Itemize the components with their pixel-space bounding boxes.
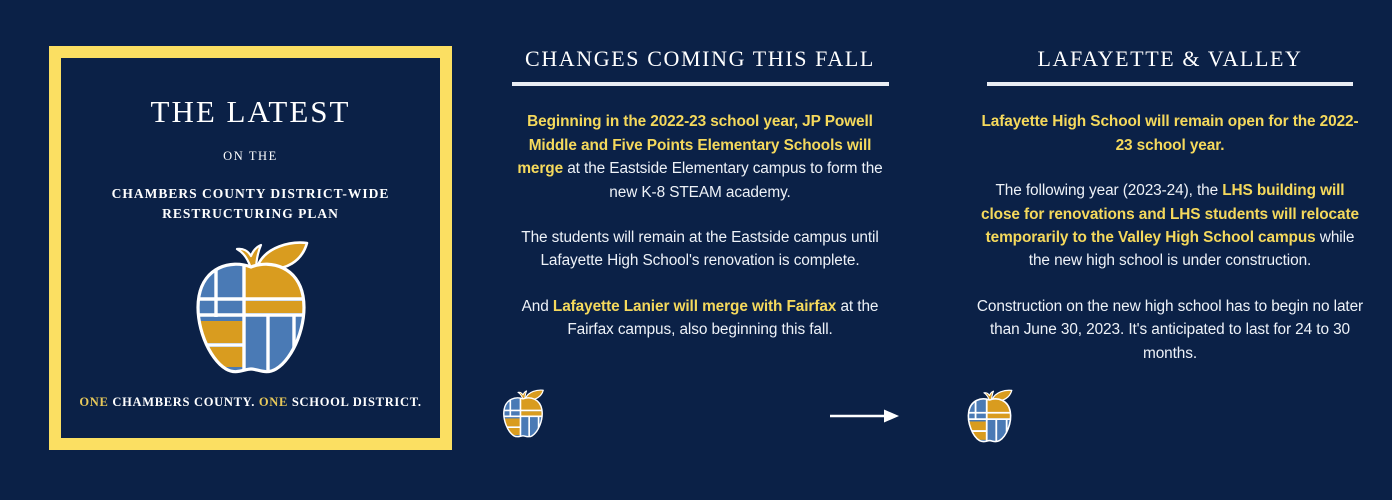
the-latest-panel-inner: THE LATEST ON THE CHAMBERS COUNTY DISTRI… [61,58,440,438]
plan-title: CHAMBERS COUNTY DISTRICT-WIDE RESTRUCTUR… [86,184,416,223]
tagline-text-a: CHAMBERS COUNTY. [109,395,259,409]
right-column-rule [987,82,1353,86]
middle-paragraph-2: The students will remain at the Eastside… [500,226,900,273]
tagline-one-b: ONE [259,395,288,409]
middle-column-rule [512,82,889,86]
middle-paragraph-3-white-a: And [522,298,553,315]
right-paragraph-2: The following year (2023-24), the LHS bu… [962,179,1378,273]
right-paragraph-3: Construction on the new high school has … [962,295,1378,365]
right-paragraph-3-white: Construction on the new high school has … [977,298,1363,362]
apple-logo-icon [498,387,548,444]
lafayette-valley-column: LAFAYETTE & VALLEY Lafayette High School… [962,46,1378,365]
right-arrow-icon [830,408,900,424]
middle-paragraph-3: And Lafayette Lanier will merge with Fai… [500,295,900,342]
middle-paragraph-3-gold: Lafayette Lanier will merge with Fairfax [553,298,836,315]
right-paragraph-1-gold: Lafayette High School will remain open f… [981,113,1358,153]
page-subtitle: ON THE [223,149,278,164]
right-paragraph-2-white-a: The following year (2023-24), the [995,182,1222,199]
chambers-county-apple-logo [182,235,320,382]
middle-paragraph-1: Beginning in the 2022-23 school year, JP… [500,110,900,204]
tagline-one-a: ONE [79,395,108,409]
right-paragraph-1: Lafayette High School will remain open f… [962,110,1378,157]
middle-paragraph-2-white: The students will remain at the Eastside… [521,229,878,269]
apple-logo-icon [962,387,1017,449]
middle-paragraph-1-white: at the Eastside Elementary campus to for… [563,160,883,200]
middle-column-heading: CHANGES COMING THIS FALL [500,46,900,71]
changes-this-fall-column: CHANGES COMING THIS FALL Beginning in th… [500,46,900,342]
page-title: THE LATEST [151,95,351,129]
tagline: ONE CHAMBERS COUNTY. ONE SCHOOL DISTRICT… [62,395,439,410]
right-column-heading: LAFAYETTE & VALLEY [962,46,1378,71]
infographic-canvas: THE LATEST ON THE CHAMBERS COUNTY DISTRI… [0,0,1392,500]
tagline-text-b: SCHOOL DISTRICT. [288,395,422,409]
the-latest-panel: THE LATEST ON THE CHAMBERS COUNTY DISTRI… [49,46,452,450]
